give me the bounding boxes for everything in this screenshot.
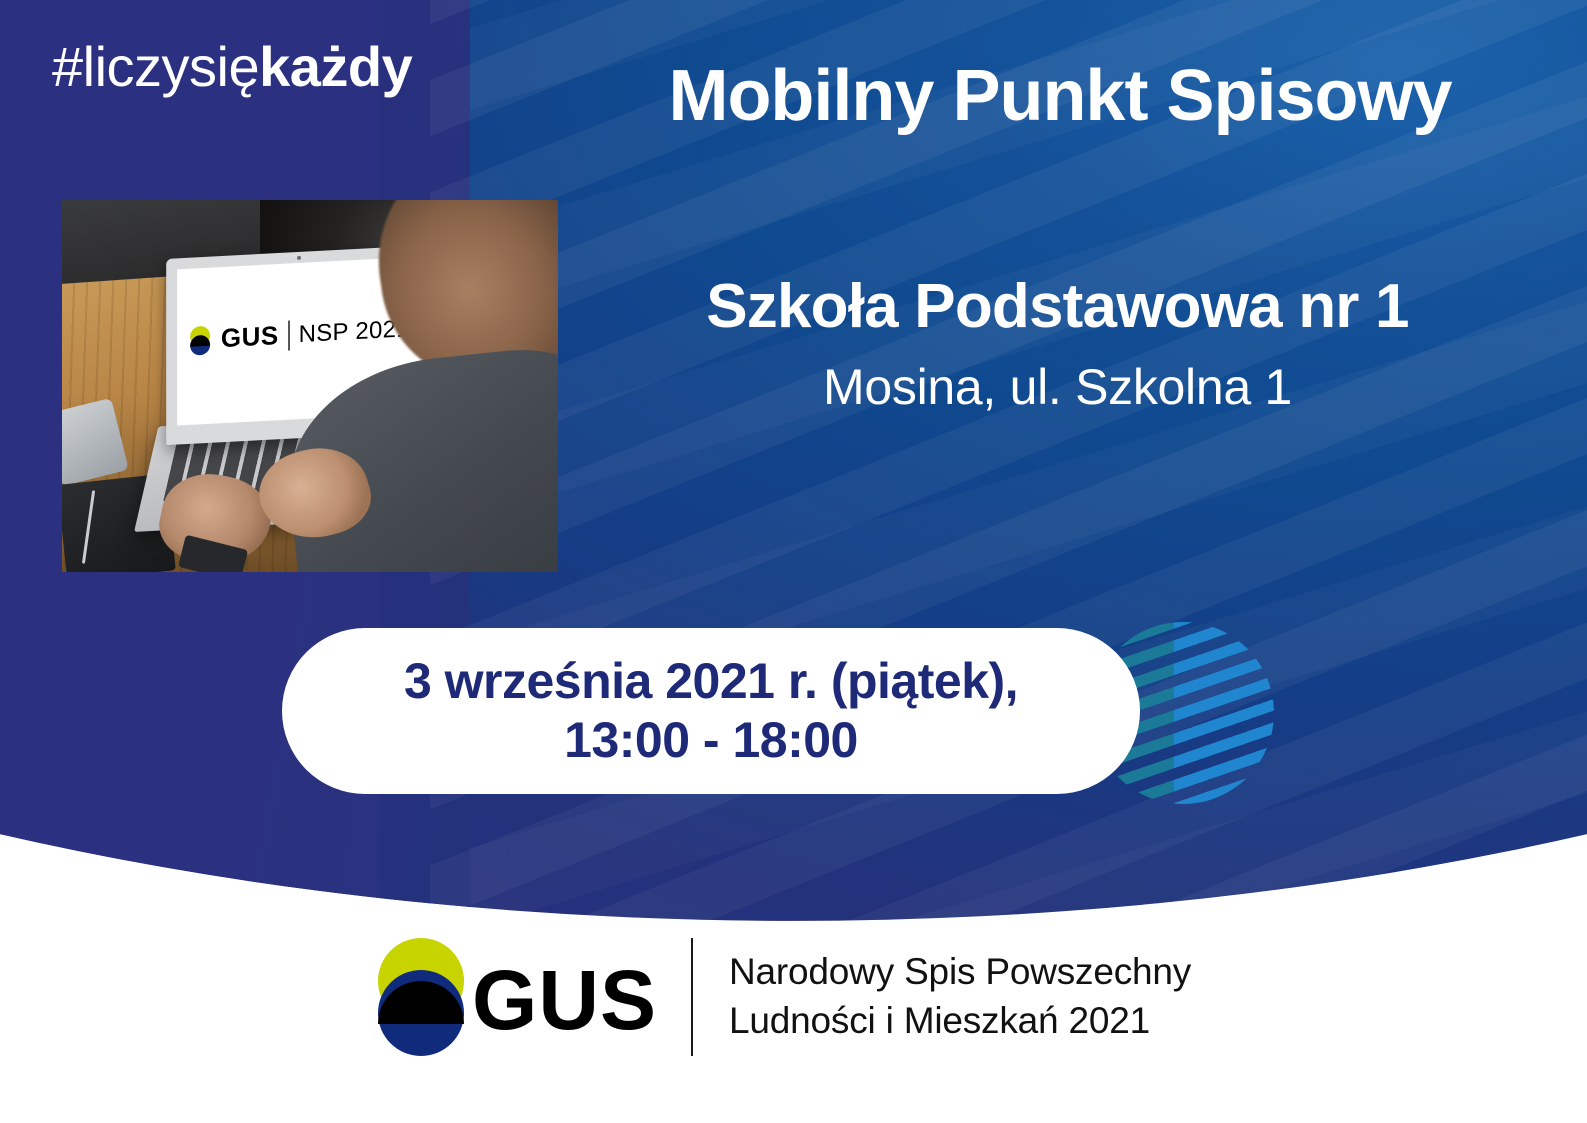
hashtag-prefix: #liczysię	[52, 35, 259, 98]
census-name-line-1: Narodowy Spis Powszechny	[729, 948, 1191, 997]
hashtag-emphasis: każdy	[259, 35, 412, 98]
poster-canvas: #liczysiękażdy Mobilny Punkt Spisowy Szk…	[0, 0, 1587, 1123]
event-date: 3 września 2021 r. (piątek),	[404, 652, 1018, 711]
gus-logo-wordmark: GUS	[472, 958, 657, 1042]
footer-logo-lockup: GUS Narodowy Spis Powszechny Ludności i …	[372, 938, 1191, 1056]
screen-logo-lockup: GUS NSP 2021	[177, 313, 423, 357]
screen-logo-word: GUS	[221, 321, 279, 355]
venue-name: Szkoła Podstawowa nr 1	[575, 272, 1540, 341]
campaign-hashtag: #liczysiękażdy	[52, 38, 412, 97]
page-title: Mobilny Punkt Spisowy	[580, 58, 1540, 136]
census-name-line-2: Ludności i Mieszkań 2021	[729, 997, 1191, 1046]
photo-laptop-camera-icon	[297, 256, 301, 260]
event-datetime-pill: 3 września 2021 r. (piątek), 13:00 - 18:…	[282, 628, 1140, 794]
screen-divider-icon	[288, 320, 290, 350]
screen-gus-logo-icon	[190, 326, 212, 355]
venue-block: Szkoła Podstawowa nr 1 Mosina, ul. Szkol…	[575, 272, 1540, 420]
headline-block: Mobilny Punkt Spisowy	[580, 58, 1540, 136]
promo-photo: GUS NSP 2021	[62, 200, 558, 572]
census-name: Narodowy Spis Powszechny Ludności i Mies…	[729, 948, 1191, 1046]
venue-address: Mosina, ul. Szkolna 1	[575, 355, 1540, 420]
photo-scene: GUS NSP 2021	[62, 200, 558, 572]
vertical-divider-icon	[691, 938, 693, 1056]
gus-logo-icon	[372, 938, 470, 1056]
event-time: 13:00 - 18:00	[564, 711, 858, 770]
